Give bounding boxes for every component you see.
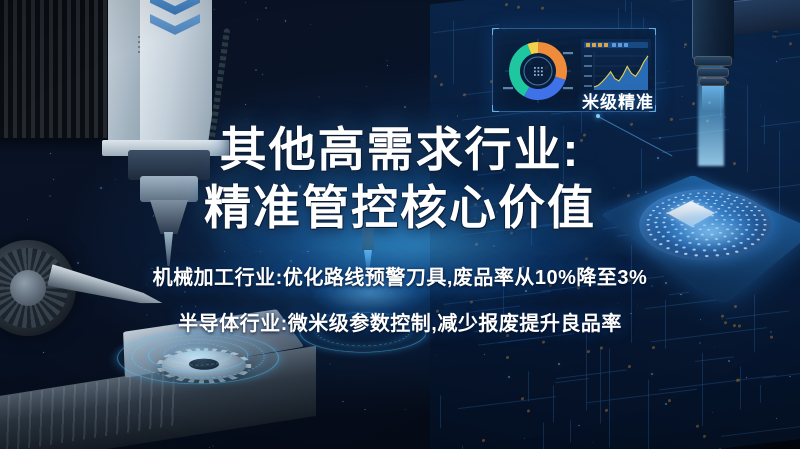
hud-panel-label: 米级精准 [582,88,654,113]
bullet-machining: 机械加工行业:优化路线预警刀具,废品率从10%降至3% [0,261,800,290]
copy-block: 其他高需求行业: 精准管控核心价值 机械加工行业:优化路线预警刀具,废品率从10… [0,0,800,449]
bullet-semiconductor: 半导体行业:微米级参数控制,减少报废提升良品率 [0,307,800,336]
promo-poster: 其他高需求行业: 精准管控核心价值 机械加工行业:优化路线预警刀具,废品率从10… [0,0,800,449]
page-title-line1: 其他高需求行业: [0,124,800,176]
page-title-line2: 精准管控核心价值 [0,182,800,234]
